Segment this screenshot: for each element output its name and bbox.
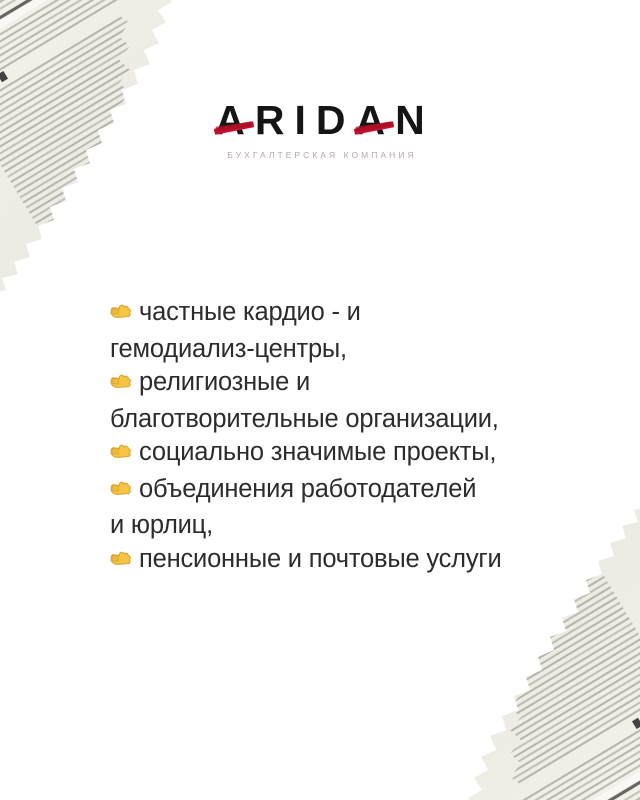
list-item: пенсионные и почтовые услуги	[108, 543, 578, 580]
pointing-right-hand-icon	[108, 369, 134, 403]
list-item: объединения работодателей	[108, 473, 578, 510]
pointing-right-hand-icon	[108, 546, 134, 580]
list-item-text: благотворительные организации,	[110, 405, 499, 433]
logo-letter-a2: A	[356, 100, 396, 141]
logo-letter-r: R	[255, 100, 295, 141]
logo-tagline: БУХГАЛТЕРСКАЯ КОМПАНИЯ	[0, 150, 640, 160]
logo-letter-a2-glyph: A	[356, 97, 396, 143]
list-item-text: и юрлиц,	[110, 511, 213, 539]
list-item-text: социально значимые проекты,	[139, 438, 496, 466]
logo-letter-r-glyph: R	[255, 97, 295, 143]
torn-newspaper-scrap-top-left	[0, 0, 226, 320]
brand-logo: ARIDAN БУХГАЛТЕРСКАЯ КОМПАНИЯ	[0, 100, 640, 160]
logo-letter-d: D	[316, 100, 356, 141]
logo-letter-a1: A	[215, 100, 255, 141]
list-item: частные кардио - и	[108, 296, 578, 333]
logo-letter-i: I	[294, 100, 315, 141]
list-item-continuation: гемодиализ-центры,	[108, 333, 578, 367]
list-item: социально значимые проекты,	[108, 436, 578, 473]
logo-letter-a1-glyph: A	[215, 97, 255, 143]
pointing-right-hand-icon	[108, 299, 134, 333]
list-item-continuation: и юрлиц,	[108, 509, 578, 543]
logo-wordmark: ARIDAN	[205, 100, 434, 141]
list-item-text: гемодиализ-центры,	[110, 335, 347, 363]
list-item-text: религиозные и	[139, 368, 310, 396]
list-item-text: пенсионные и почтовые услуги	[139, 545, 502, 573]
services-bullet-list: частные кардио - и гемодиализ-центры, ре…	[108, 296, 578, 579]
logo-letter-i-glyph: I	[294, 97, 315, 143]
pointing-right-hand-icon	[108, 439, 134, 473]
list-item-text: частные кардио - и	[139, 298, 361, 326]
list-item-text: объединения работодателей	[139, 475, 476, 503]
pointing-right-hand-icon	[108, 476, 134, 510]
logo-letter-d-glyph: D	[316, 97, 356, 143]
list-item: религиозные и	[108, 366, 578, 403]
logo-letter-n: N	[395, 100, 435, 141]
logo-letter-n-glyph: N	[395, 97, 435, 143]
poster-canvas: ARIDAN БУХГАЛТЕРСКАЯ КОМПАНИЯ частные ка…	[0, 0, 640, 800]
list-item-continuation: благотворительные организации,	[108, 403, 578, 437]
